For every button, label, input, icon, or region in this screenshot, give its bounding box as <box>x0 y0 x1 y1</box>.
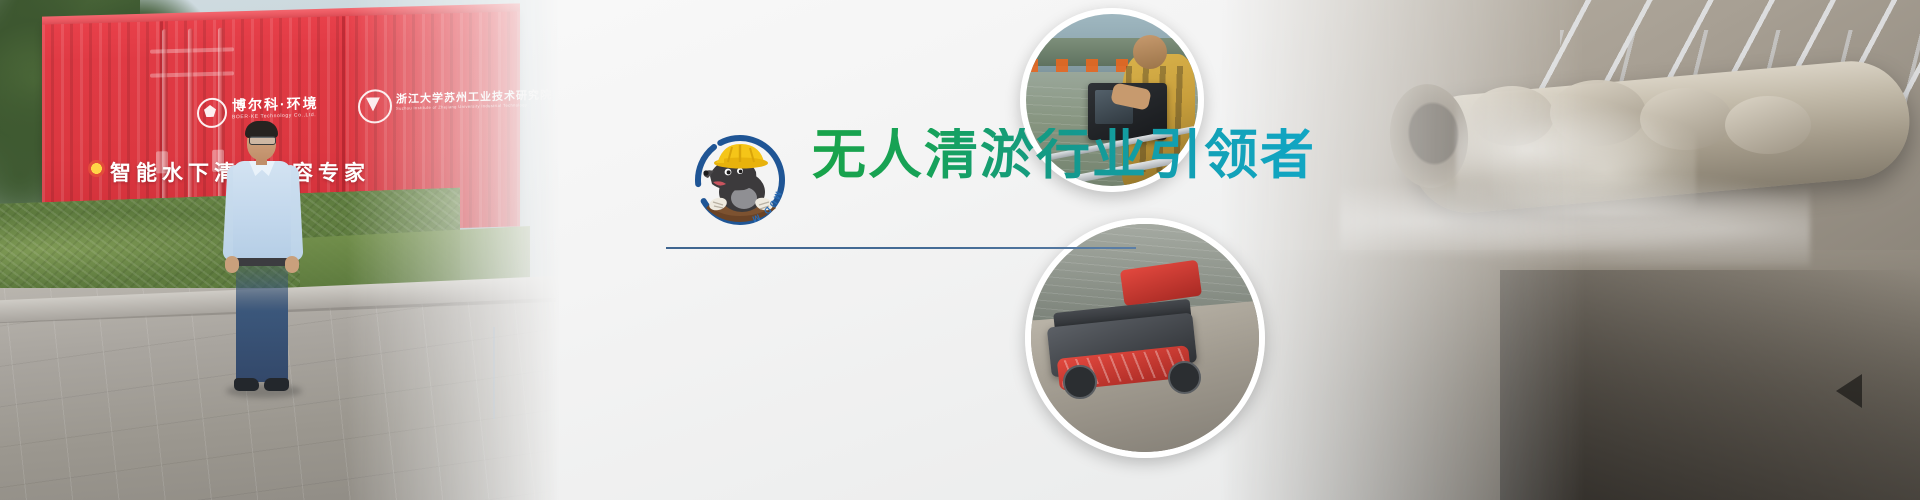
person-right-shoe <box>264 378 289 391</box>
eyeglasses-icon <box>249 136 276 145</box>
shirt-placket <box>493 327 495 419</box>
sludge-lump <box>1725 96 1811 154</box>
person-shirt <box>233 161 291 264</box>
person-left-hand <box>225 256 239 273</box>
play-arrow-icon <box>1836 374 1862 408</box>
circle-photo-dredging-robot <box>1025 218 1265 458</box>
person-belt <box>236 258 288 266</box>
person-left-shoe <box>234 378 259 391</box>
person-trousers <box>236 264 288 382</box>
left-photo: 博尔科·环境 BOER·KE Technology Co.,Ltd. 浙江大学苏… <box>0 0 560 500</box>
right-photo-pipe-discharge <box>1220 0 1920 500</box>
slogan-badge-icon <box>88 160 105 177</box>
operator-head <box>1133 35 1167 69</box>
headline-divider <box>666 247 1136 249</box>
mud-mole-logo[interactable]: MUD MOLE <box>688 128 792 232</box>
mud-mole-circle-logo: MUD MOLE <box>688 128 792 232</box>
person-right-hand <box>285 256 299 273</box>
surface-foam <box>1340 176 1810 266</box>
headline-text: 无人清淤行业引领者 <box>812 128 1316 182</box>
robot-wheel <box>1063 365 1097 399</box>
hero-banner: 博尔科·环境 BOER·KE Technology Co.,Ltd. 浙江大学苏… <box>0 0 1920 500</box>
headline: 无人清淤行业引领者 <box>812 123 1316 187</box>
